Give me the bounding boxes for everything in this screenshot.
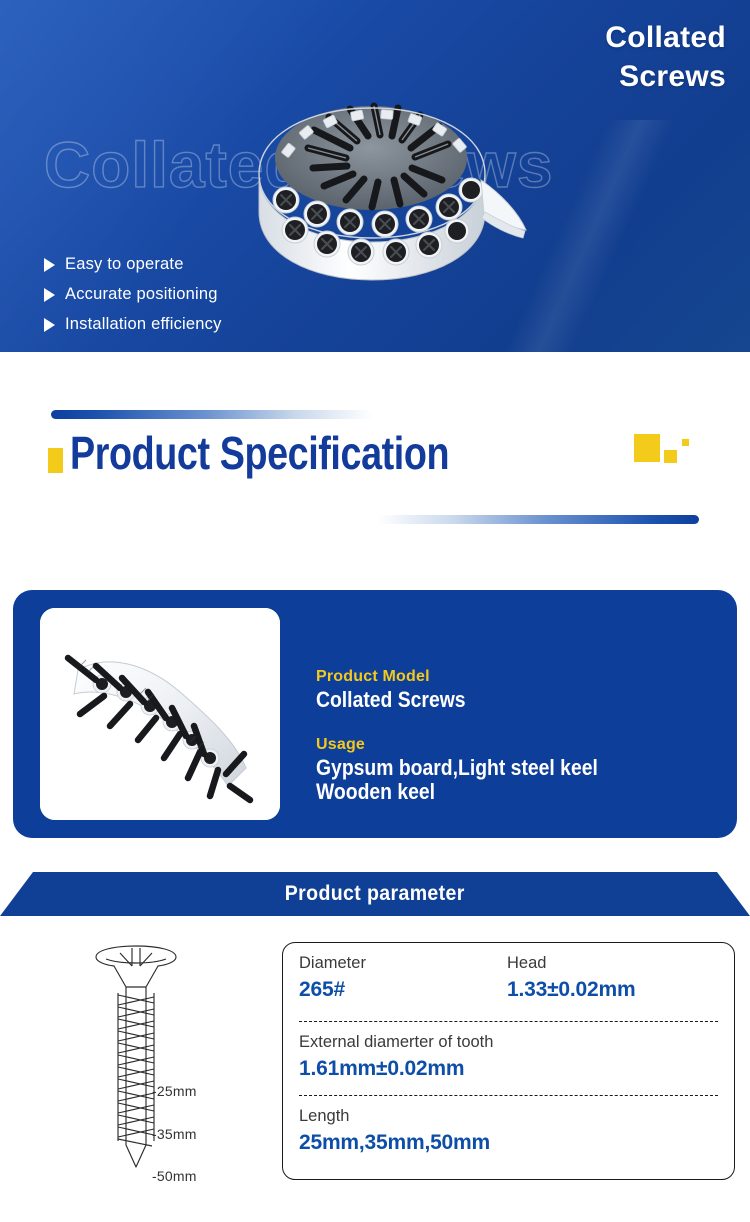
usage-value-line-1: Gypsum board,Light steel keel xyxy=(316,756,598,780)
spec-cell-diameter: Diameter 265# xyxy=(299,952,507,1004)
specification-table: Diameter 265# Head 1.33±0.02mm External … xyxy=(282,942,735,1180)
triangle-bullet-icon xyxy=(44,288,55,302)
spec-label: Diameter xyxy=(299,952,507,976)
hero-title: Collated Screws xyxy=(605,18,726,96)
spec-label: External diamerter of tooth xyxy=(299,1031,718,1055)
hero-product-image xyxy=(196,62,546,292)
table-row: External diamerter of tooth 1.61mm±0.02m… xyxy=(299,1021,718,1095)
usage-label: Usage xyxy=(316,736,636,754)
product-detail-page: Collated Screws Collated Screws xyxy=(0,0,750,1222)
triangle-bullet-icon xyxy=(44,258,55,272)
product-model-field: Product Model Collated Screws xyxy=(316,668,636,712)
hero-title-line-1: Collated xyxy=(605,18,726,57)
length-callout: -50mm xyxy=(152,1168,197,1184)
length-callout: -35mm xyxy=(152,1126,197,1142)
screw-length-callouts: -25mm -35mm -50mm xyxy=(152,935,272,1200)
table-row: Diameter 265# Head 1.33±0.02mm xyxy=(299,943,718,1021)
spec-value: 25mm,35mm,50mm xyxy=(299,1129,718,1157)
hero-title-line-2: Screws xyxy=(605,57,726,96)
product-specification-section-header: Product Specification xyxy=(0,352,750,580)
spec-cell-length: Length 25mm,35mm,50mm xyxy=(299,1105,718,1157)
hero-feature-label: Installation efficiency xyxy=(65,315,222,334)
yellow-square-large xyxy=(634,434,660,462)
hero-feature-item: Installation efficiency xyxy=(44,315,222,334)
spec-label: Length xyxy=(299,1105,718,1129)
length-callout: -25mm xyxy=(152,1083,197,1099)
header-gradient-bar-top xyxy=(51,410,373,419)
spec-value: 1.61mm±0.02mm xyxy=(299,1055,718,1083)
hero-feature-item: Accurate positioning xyxy=(44,285,222,304)
usage-field: Usage Gypsum board,Light steel keel Wood… xyxy=(316,736,636,804)
product-card-details: Product Model Collated Screws Usage Gyps… xyxy=(316,668,636,803)
product-parameter-banner-title: Product parameter xyxy=(285,882,465,906)
hero-feature-item: Easy to operate xyxy=(44,255,222,274)
hero-feature-label: Accurate positioning xyxy=(65,285,218,304)
section-title-row: Product Specification xyxy=(48,430,532,476)
yellow-square-accent-leading xyxy=(48,448,63,473)
hero-feature-label: Easy to operate xyxy=(65,255,184,274)
header-gradient-bar-bottom xyxy=(377,515,699,524)
product-model-label: Product Model xyxy=(316,668,636,686)
product-parameter-section: -25mm -35mm -50mm Diameter 265# Head 1.3… xyxy=(0,930,750,1210)
usage-value-line-2: Wooden keel xyxy=(316,780,598,804)
collated-screws-strip-illustration xyxy=(40,608,280,820)
spec-cell-head: Head 1.33±0.02mm xyxy=(507,952,635,1004)
hero-feature-list: Easy to operate Accurate positioning Ins… xyxy=(44,255,222,334)
product-card-image xyxy=(40,608,280,820)
table-row: Length 25mm,35mm,50mm xyxy=(299,1095,718,1175)
product-info-card: Product Model Collated Screws Usage Gyps… xyxy=(13,590,737,838)
hero-banner: Collated Screws Collated Screws xyxy=(0,0,750,352)
section-title: Product Specification xyxy=(70,430,449,476)
triangle-bullet-icon xyxy=(44,318,55,332)
yellow-square-medium xyxy=(664,450,677,463)
product-model-value: Collated Screws xyxy=(316,688,598,712)
spec-value: 1.33±0.02mm xyxy=(507,976,635,1004)
spec-label: Head xyxy=(507,952,635,976)
product-parameter-banner: Product parameter xyxy=(0,872,750,916)
spec-value: 265# xyxy=(299,976,507,1004)
spec-cell-external-diameter: External diamerter of tooth 1.61mm±0.02m… xyxy=(299,1031,718,1083)
yellow-square-small xyxy=(682,439,689,446)
